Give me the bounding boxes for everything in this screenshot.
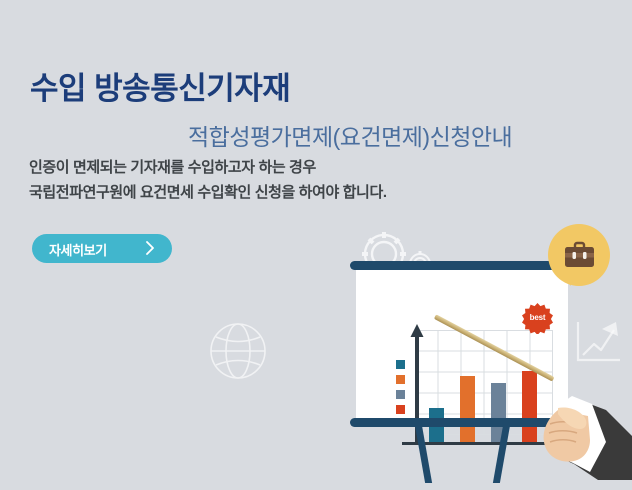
promo-banner: 수입 방송통신기자재 적합성평가면제(요건면제)신청안내 인증이 면제되는 기자… (0, 0, 632, 490)
legend-swatch (396, 405, 405, 414)
legend-swatch (396, 390, 405, 399)
page-subtitle: 적합성평가면제(요건면제)신청안내 (188, 118, 512, 152)
description-line-2: 국립전파연구원에 요건면세 수입확인 신청을 하여야 합니다. (29, 180, 387, 205)
description-line-1: 인증이 면제되는 기자재를 수입하고자 하는 경우 (29, 155, 387, 180)
hand-holding-pointer (528, 376, 632, 490)
best-badge: best (522, 303, 553, 334)
legend-swatch (396, 375, 405, 384)
legend-swatch (396, 360, 405, 369)
page-title: 수입 방송통신기자재 (30, 63, 290, 108)
briefcase-icon (564, 241, 595, 269)
best-badge-label: best (522, 313, 553, 322)
globe-icon (207, 320, 269, 382)
detail-view-button-label: 자세히보기 (49, 240, 107, 259)
chart-legend (396, 360, 405, 420)
description-text: 인증이 면제되는 기자재를 수입하고자 하는 경우 국립전파연구원에 요건면세 … (29, 155, 387, 205)
speech-bubble (536, 224, 614, 300)
chart-bar (460, 376, 475, 443)
chevron-right-icon (145, 240, 155, 256)
detail-view-button[interactable]: 자세히보기 (32, 234, 172, 263)
presentation-easel: best (340, 228, 632, 490)
